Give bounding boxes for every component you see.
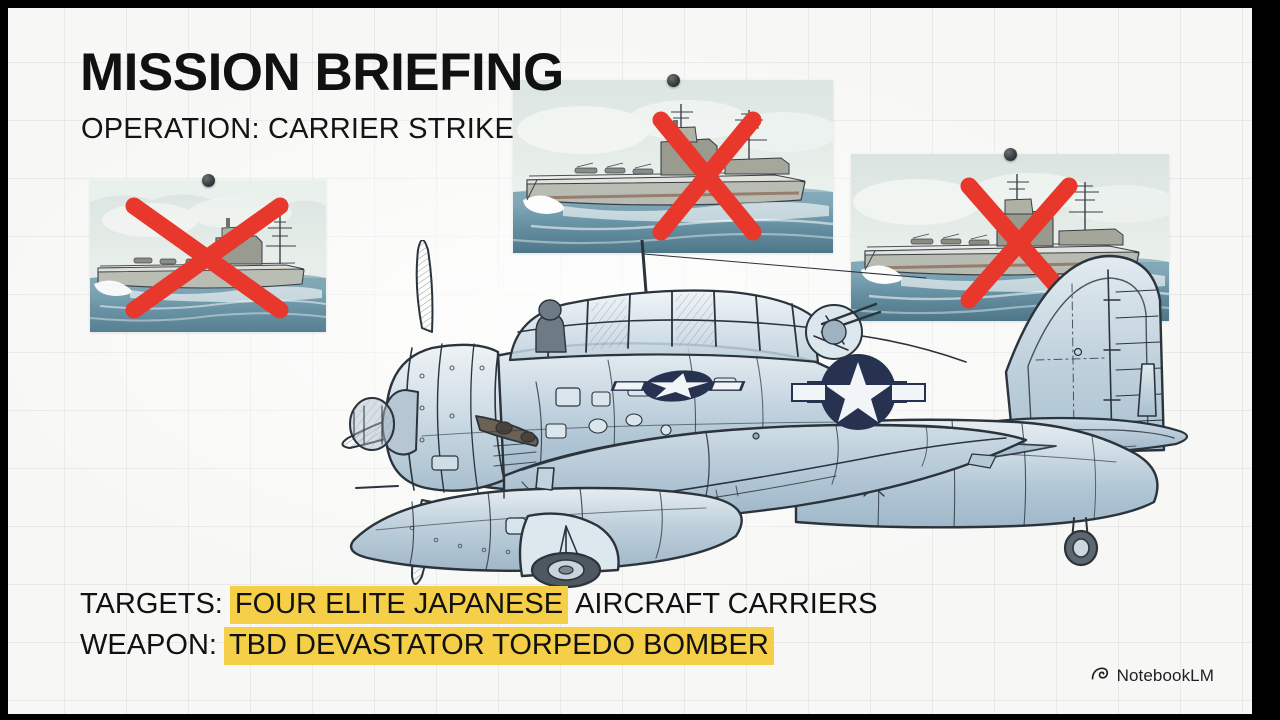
page-subtitle: OPERATION: CARRIER STRIKE xyxy=(81,115,514,144)
targets-highlight: FOUR ELITE JAPANESE xyxy=(230,586,568,624)
target-card-2[interactable] xyxy=(513,80,833,253)
letterbox-right xyxy=(1252,0,1280,720)
weapon-label: WEAPON: xyxy=(80,631,217,660)
strikethrough-x-icon-2 xyxy=(513,80,833,253)
notebooklm-watermark: NotebookLM xyxy=(1090,664,1214,688)
briefing-line-weapon: WEAPON: TBD DEVASTATOR TORPEDO BOMBER xyxy=(80,631,877,660)
pushpin-icon-2 xyxy=(667,74,680,87)
slide-stage: MISSION BRIEFING OPERATION: CARRIER STRI… xyxy=(0,0,1280,720)
letterbox-top xyxy=(0,0,1280,8)
briefing-line-targets: TARGETS: FOUR ELITE JAPANESE AIRCRAFT CA… xyxy=(80,590,877,619)
tbd-devastator-illustration xyxy=(236,240,1211,588)
weapon-highlight: TBD DEVASTATOR TORPEDO BOMBER xyxy=(224,627,774,665)
pushpin-icon-1 xyxy=(202,174,215,187)
briefing-details: TARGETS: FOUR ELITE JAPANESE AIRCRAFT CA… xyxy=(80,590,877,660)
notebooklm-label: NotebookLM xyxy=(1117,666,1214,686)
pushpin-icon-3 xyxy=(1004,148,1017,161)
slide-canvas: MISSION BRIEFING OPERATION: CARRIER STRI… xyxy=(8,8,1252,714)
letterbox-bottom xyxy=(0,714,1280,720)
targets-label: TARGETS: xyxy=(80,590,223,619)
page-title: MISSION BRIEFING xyxy=(80,46,564,99)
letterbox-left xyxy=(0,0,8,720)
notebooklm-logo-icon xyxy=(1090,664,1109,688)
targets-tail: AIRCRAFT CARRIERS xyxy=(575,590,877,619)
